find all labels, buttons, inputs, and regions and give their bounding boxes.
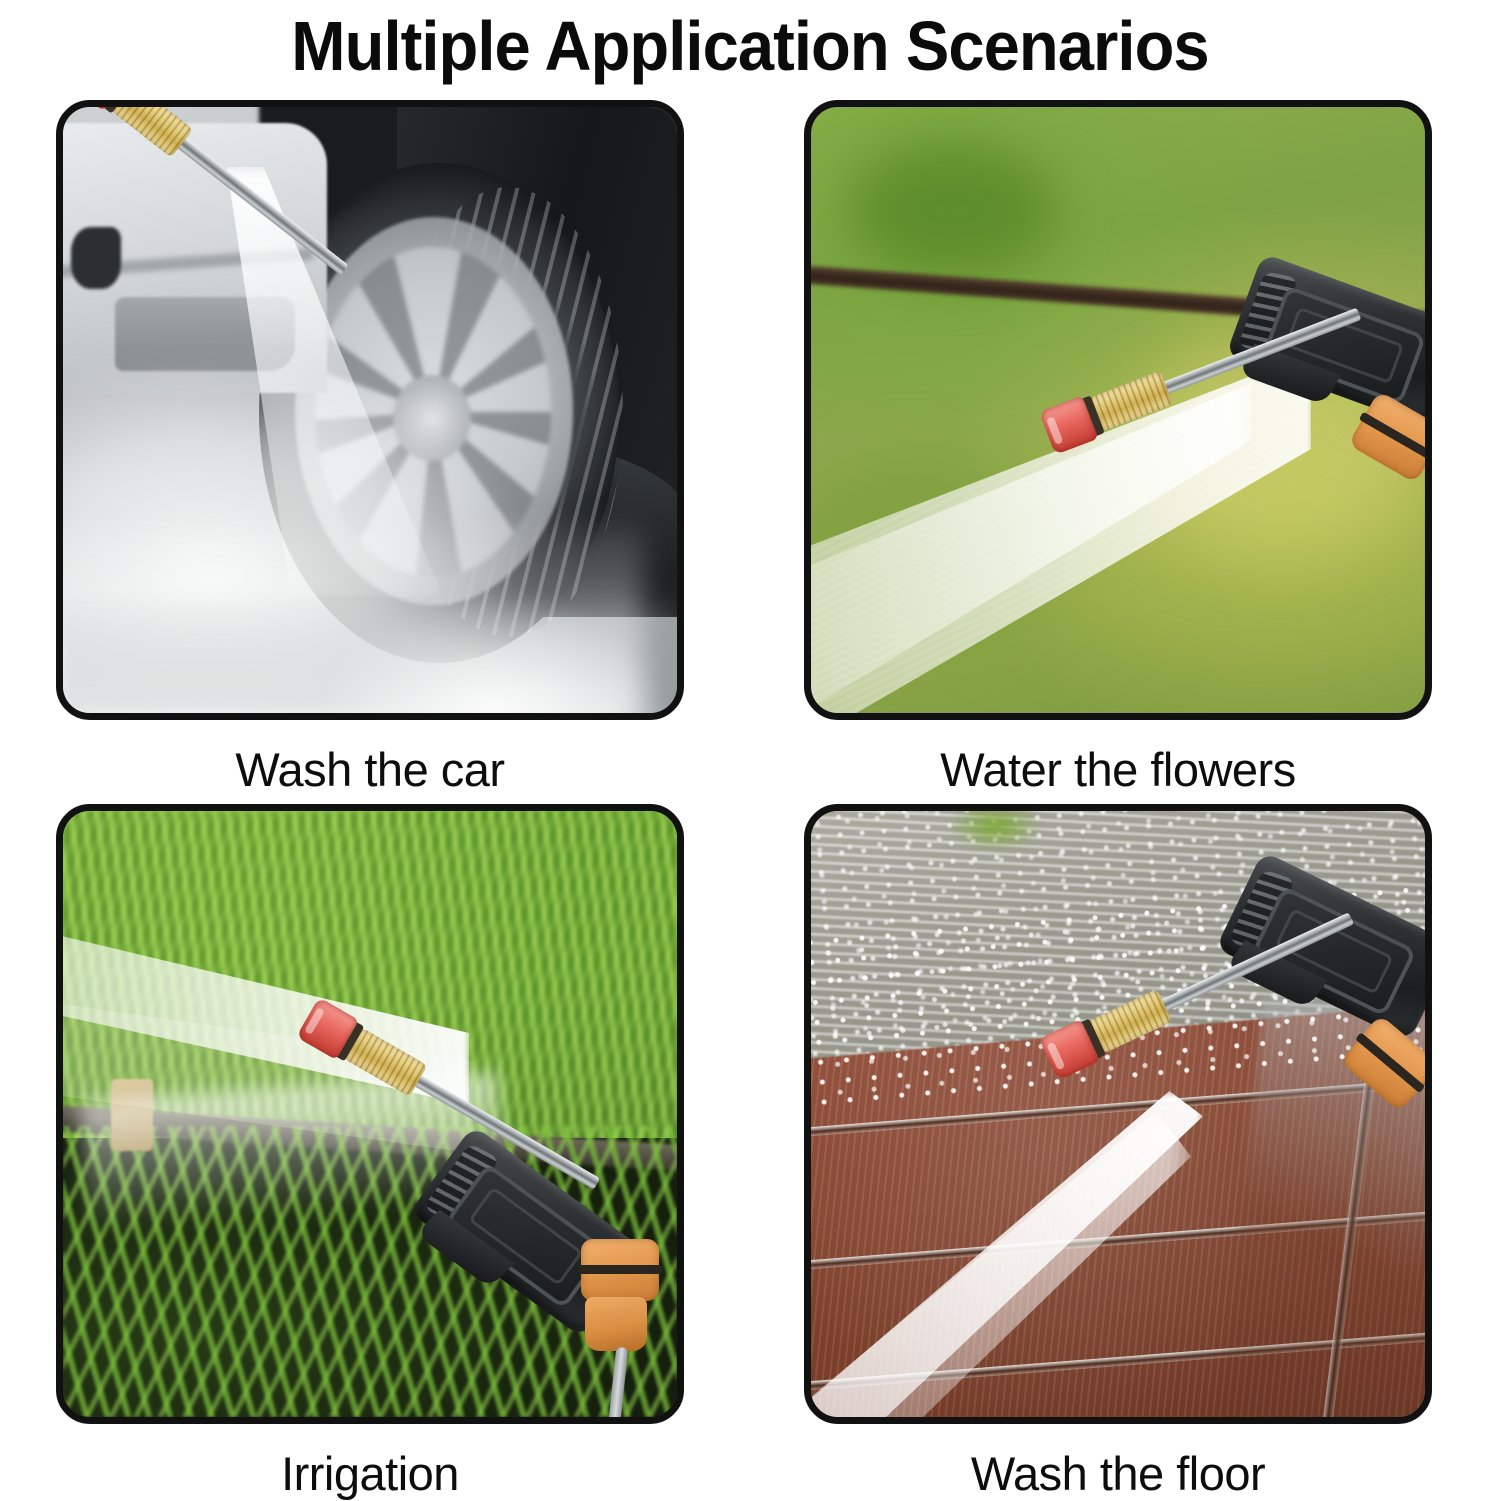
scenario-card-wash-the-floor[interactable]: Wash the floor bbox=[804, 804, 1444, 1501]
scene-car-wash bbox=[63, 107, 677, 713]
caption-irrigation: Irrigation bbox=[56, 1446, 684, 1501]
water-splash bbox=[313, 593, 673, 713]
moss-patch bbox=[946, 811, 1044, 853]
caption-water-the-flowers: Water the flowers bbox=[804, 742, 1432, 797]
page-title: Multiple Application Scenarios bbox=[53, 0, 1448, 92]
scenario-grid: Wash the car bbox=[0, 100, 1500, 1500]
side-mirror bbox=[71, 227, 121, 289]
hose-connector-lower bbox=[585, 1297, 647, 1351]
caption-wash-the-car: Wash the car bbox=[56, 742, 684, 797]
scene-lawn bbox=[811, 107, 1425, 713]
hose-connector bbox=[581, 1239, 659, 1301]
infographic-page: Multiple Application Scenarios bbox=[0, 0, 1500, 1500]
scenario-image-wash-the-floor[interactable] bbox=[804, 804, 1432, 1424]
scene-paving bbox=[811, 811, 1425, 1417]
scenario-card-wash-the-car[interactable]: Wash the car bbox=[56, 100, 696, 797]
scenario-image-water-the-flowers[interactable] bbox=[804, 100, 1432, 720]
scenario-card-irrigation[interactable]: Irrigation bbox=[56, 804, 696, 1501]
scenario-card-water-the-flowers[interactable]: Water the flowers bbox=[804, 100, 1444, 797]
caption-wash-the-floor: Wash the floor bbox=[804, 1446, 1432, 1501]
lawn-blur-patch-1 bbox=[848, 143, 1057, 276]
scene-garden bbox=[63, 811, 677, 1417]
scenario-image-irrigation[interactable] bbox=[56, 804, 684, 1424]
scenario-image-wash-the-car[interactable] bbox=[56, 100, 684, 720]
